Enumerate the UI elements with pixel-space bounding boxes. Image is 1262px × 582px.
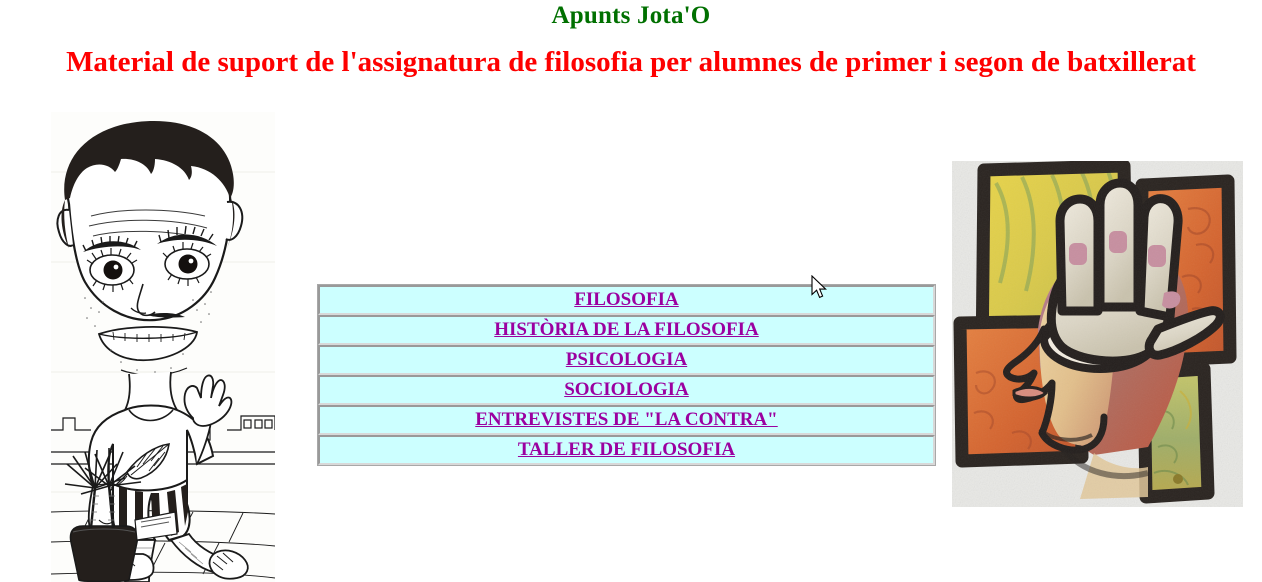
table-row: FILOSOFIA <box>318 285 935 315</box>
menu-cell-entrevistes-de-la-contra[interactable]: ENTREVISTES DE "LA CONTRA" <box>318 405 935 435</box>
menu-link-historia-de-la-filosofia[interactable]: HISTÒRIA DE LA FILOSOFIA <box>494 319 759 340</box>
caricature-drawing-image <box>51 112 275 582</box>
table-row: HISTÒRIA DE LA FILOSOFIA <box>318 315 935 345</box>
menu-cell-filosofia[interactable]: FILOSOFIA <box>318 285 935 315</box>
menu-link-sociologia[interactable]: SOCIOLOGIA <box>564 379 689 400</box>
menu-link-psicologia[interactable]: PSICOLOGIA <box>566 349 687 370</box>
menu-link-filosofia[interactable]: FILOSOFIA <box>574 289 679 310</box>
table-row: PSICOLOGIA <box>318 345 935 375</box>
abstract-painting-image <box>952 161 1243 507</box>
menu-cell-sociologia[interactable]: SOCIOLOGIA <box>318 375 935 405</box>
menu-link-entrevistes-de-la-contra[interactable]: ENTREVISTES DE "LA CONTRA" <box>475 409 777 430</box>
page-subtitle: Material de suport de l'assignatura de f… <box>0 46 1262 79</box>
main-menu: FILOSOFIA HISTÒRIA DE LA FILOSOFIA PSICO… <box>317 284 936 466</box>
table-row: ENTREVISTES DE "LA CONTRA" <box>318 405 935 435</box>
page-title: Apunts Jota'O <box>0 2 1262 30</box>
table-row: SOCIOLOGIA <box>318 375 935 405</box>
table-row: TALLER DE FILOSOFIA <box>318 435 935 465</box>
menu-cell-historia-de-la-filosofia[interactable]: HISTÒRIA DE LA FILOSOFIA <box>318 315 935 345</box>
menu-cell-psicologia[interactable]: PSICOLOGIA <box>318 345 935 375</box>
menu-table: FILOSOFIA HISTÒRIA DE LA FILOSOFIA PSICO… <box>317 284 936 466</box>
menu-cell-taller-de-filosofia[interactable]: TALLER DE FILOSOFIA <box>318 435 935 465</box>
menu-link-taller-de-filosofia[interactable]: TALLER DE FILOSOFIA <box>518 439 735 460</box>
